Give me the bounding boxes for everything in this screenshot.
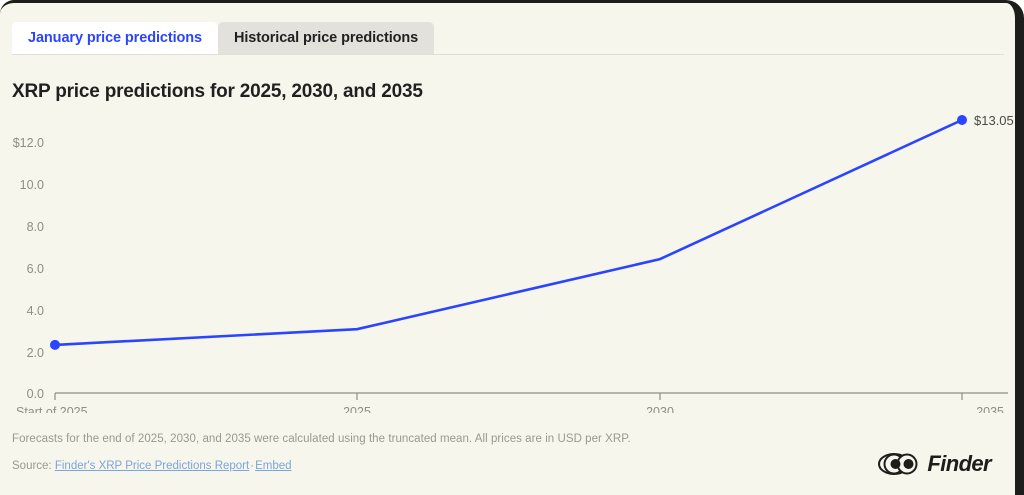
source-row: Source: Finder's XRP Price Predictions R… [12,460,292,472]
finder-eyes-icon [878,452,922,476]
x-tick-label: 2035 [976,405,1004,413]
chart-footnote: Forecasts for the end of 2025, 2030, and… [12,433,631,445]
x-tick-label: 2025 [343,405,371,413]
data-point-marker-end[interactable] [957,115,967,125]
y-tick-label: 2.0 [27,346,44,360]
line-chart: $12.0 10.0 8.0 6.0 4.0 2.0 0.0 [0,113,1015,413]
y-tick-label: 10.0 [20,178,44,192]
brand-name: Finder [927,451,991,477]
page-title: XRP price predictions for 2025, 2030, an… [12,81,423,103]
y-tick-label: 8.0 [27,220,44,234]
y-tick-label: 6.0 [27,262,44,276]
source-report-link[interactable]: Finder's XRP Price Predictions Report [55,460,249,472]
tab-historical-price-predictions[interactable]: Historical price predictions [218,22,434,55]
data-point-label: $13.05 [974,113,1014,128]
chart-widget: January price predictions Historical pri… [0,0,1024,495]
tab-january-price-predictions[interactable]: January price predictions [12,22,218,55]
chart-svg: $12.0 10.0 8.0 6.0 4.0 2.0 0.0 [0,113,1015,413]
series-line [55,120,962,345]
y-tick-label: 0.0 [27,387,44,401]
x-tick-label: Start of 2025 [16,405,88,413]
brand-logo: Finder [878,451,991,477]
data-point-marker-start[interactable] [50,340,60,350]
x-axis-labels: Start of 2025 2025 2030 2035 [16,405,1004,413]
embed-link[interactable]: Embed [255,460,291,472]
y-axis-labels: $12.0 10.0 8.0 6.0 4.0 2.0 0.0 [13,136,44,401]
tab-divider [12,54,1004,55]
source-label: Source: [12,460,52,472]
x-tick-label: 2030 [646,405,674,413]
x-axis-ticks [55,393,962,400]
tab-bar: January price predictions Historical pri… [0,17,1015,55]
y-tick-label: 4.0 [27,304,44,318]
y-tick-label: $12.0 [13,136,44,150]
